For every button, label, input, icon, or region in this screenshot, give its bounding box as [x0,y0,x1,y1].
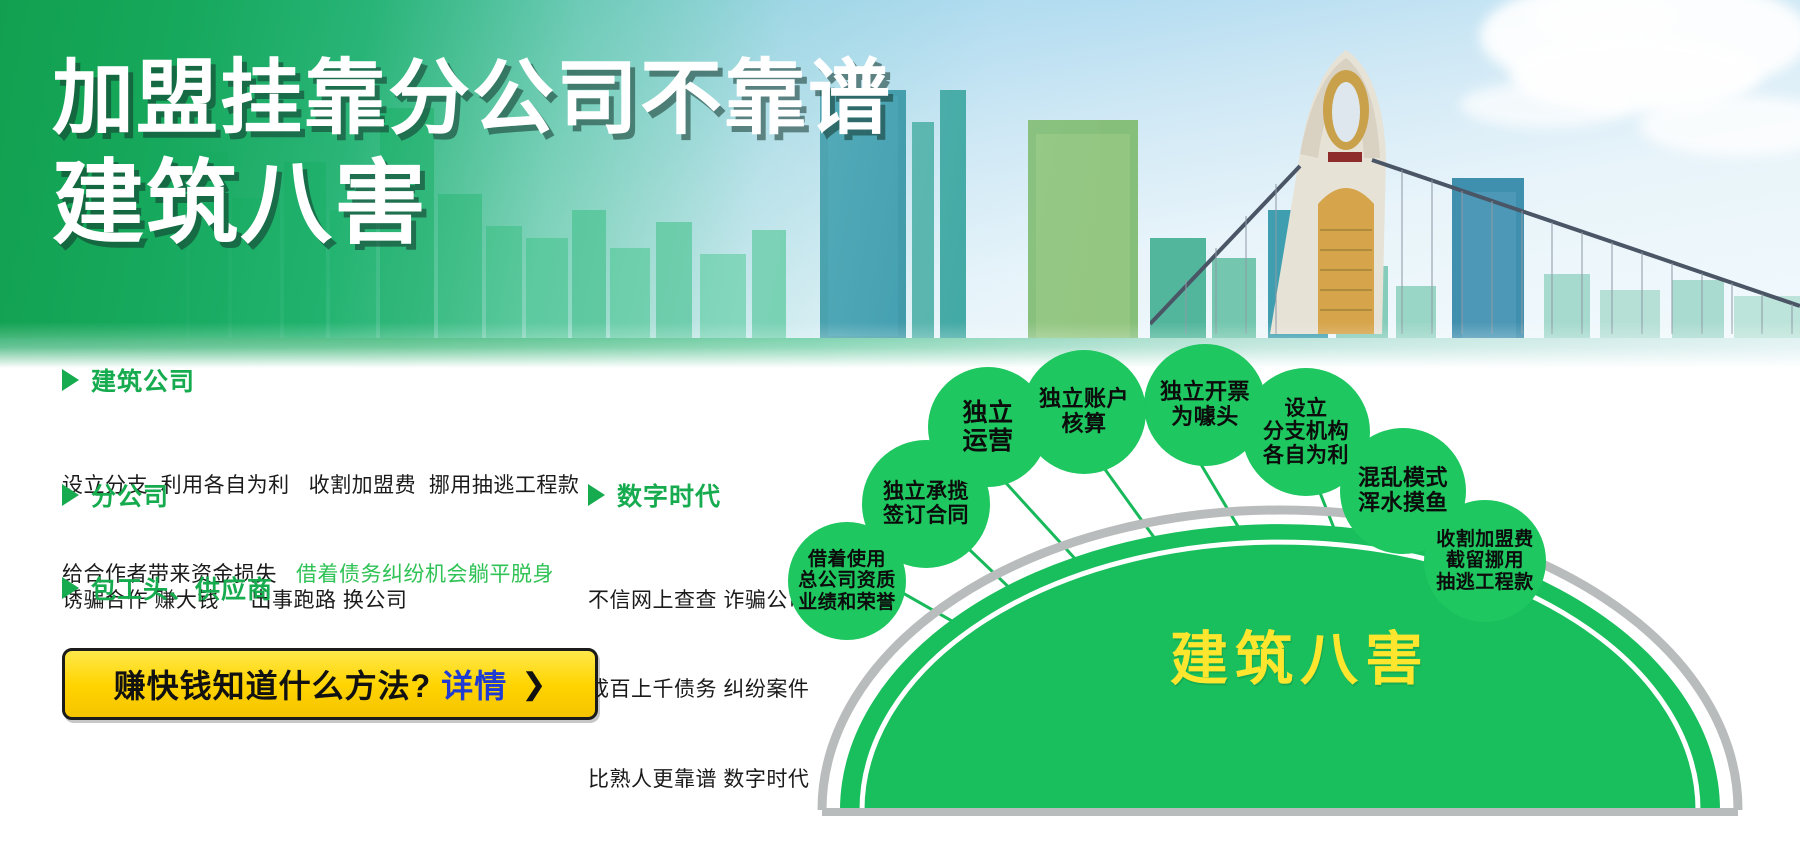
section-body: 不信网上查查 诈骗公司 成百上千债务 纠纷案件 比熟人更靠谱 数字时代 [588,526,809,844]
left-content-panel: 建筑公司 设立分支 利用各自为利 收割加盟费 挪用抽逃工程款 给合作者带来资金损… [0,372,820,844]
bubble-line: 独立承揽 [883,480,969,504]
bridge-illustration [1150,34,1800,334]
section-title: 分公司 [91,477,169,513]
triangle-bullet-icon [62,369,79,391]
bubble-line: 核算 [1039,412,1129,437]
hero-title-line-2: 建筑八害 [52,158,1052,250]
section-line: 不信网上查查 诈骗公司 [588,586,809,616]
section-heading: 包工头、供应商 [62,570,410,606]
section-heading: 建筑公司 [62,362,579,398]
section-title: 数字时代 [617,477,721,513]
section-title: 建筑公司 [91,362,195,398]
bubble-line: 混乱模式 [1358,466,1448,491]
dome-base-line [822,808,1738,816]
bubble-line: 借着使用 [798,549,896,570]
poster-page: 加盟挂靠分公司不靠谱 建筑八害 建筑公司 设立分支 利用各自为利 收割加盟费 挪… [0,0,1800,844]
triangle-bullet-icon [62,577,79,599]
hero-banner: 加盟挂靠分公司不靠谱 建筑八害 [0,0,1800,368]
section-heading: 分公司 [62,477,407,513]
section-digital-era: 数字时代 不信网上查查 诈骗公司 成百上千债务 纠纷案件 比熟人更靠谱 数字时代 [588,477,809,844]
bubble-line: 独立账户 [1039,387,1129,412]
hero-title-line-1: 加盟挂靠分公司不靠谱 [52,58,1052,140]
bubble-line: 浑水摸鱼 [1358,491,1448,516]
bubble-line: 收割加盟费 [1436,529,1534,550]
bubble-line: 独立开票 [1160,380,1250,405]
chevron-right-icon: ❯ [521,667,546,702]
cta-detail-link[interactable]: 详情 [441,661,507,707]
bubble-line: 分支机构 [1263,420,1349,444]
dome-diagram: 借着使用 总公司资质 业绩和荣誉 独立承揽 签订合同 独立 运营 独立账户 核算 [800,340,1800,844]
bubble-line: 业绩和荣誉 [798,592,896,613]
hero-title-block: 加盟挂靠分公司不靠谱 建筑八害 [52,58,1052,250]
bubble-line: 设立 [1263,397,1349,421]
cta-button[interactable]: 赚快钱知道什么方法? 详情 ❯ [62,648,598,720]
section-title: 包工头、供应商 [91,570,273,606]
bubble-line: 签订合同 [883,504,969,528]
bubble-line: 运营 [962,427,1013,455]
dome-center-label: 建筑八害 [800,612,1800,696]
section-line: 比熟人更靠谱 数字时代 [588,765,809,795]
bubble-line: 抽逃工程款 [1436,572,1534,593]
section-line: 成百上千债务 纠纷案件 [588,675,809,705]
bubble-8[interactable]: 收割加盟费 截留挪用 抽逃工程款 [1424,500,1546,622]
bubble-line: 为噱头 [1160,405,1250,430]
bubble-4[interactable]: 独立账户 核算 [1022,350,1146,474]
bubble-line: 总公司资质 [798,570,896,591]
cta-label: 赚快钱知道什么方法? [114,661,432,707]
bubble-line: 独立 [962,399,1013,427]
bubble-line: 截留挪用 [1436,550,1534,571]
section-heading: 数字时代 [588,477,809,513]
bubble-line: 各自为利 [1263,444,1349,468]
triangle-bullet-icon [62,484,79,506]
triangle-bullet-icon [588,484,605,506]
